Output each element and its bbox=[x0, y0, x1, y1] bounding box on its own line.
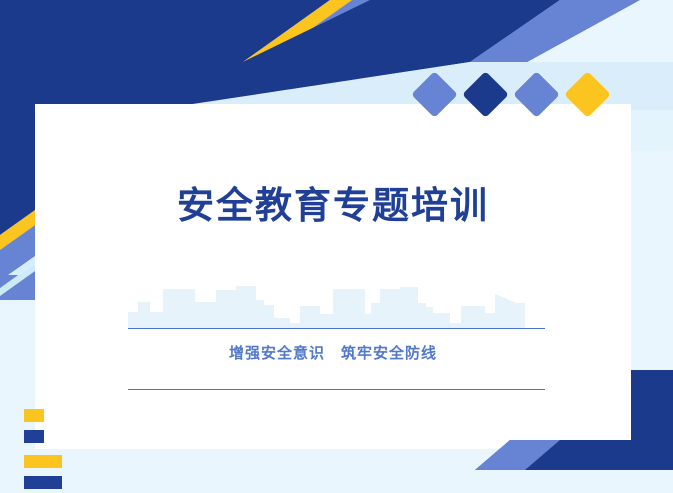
accent-bar-3 bbox=[24, 455, 62, 468]
diamond-decoration-row bbox=[418, 68, 618, 120]
presentation-slide: 安全教育专题培训 bbox=[0, 0, 673, 493]
accent-bar-1 bbox=[24, 409, 44, 422]
diamond-4-icon bbox=[564, 71, 611, 118]
city-skyline-silhouette bbox=[128, 276, 545, 329]
corner-wedge bbox=[420, 370, 673, 493]
divider-top bbox=[128, 328, 545, 329]
accent-bar-2 bbox=[24, 430, 44, 443]
diamond-3-icon bbox=[513, 71, 560, 118]
accent-bar-4 bbox=[24, 476, 62, 489]
diamond-2-icon bbox=[462, 71, 509, 118]
slide-subtitle: 增强安全意识 筑牢安全防线 bbox=[35, 342, 631, 363]
slide-title: 安全教育专题培训 bbox=[35, 175, 631, 229]
diamond-1-icon bbox=[411, 71, 458, 118]
